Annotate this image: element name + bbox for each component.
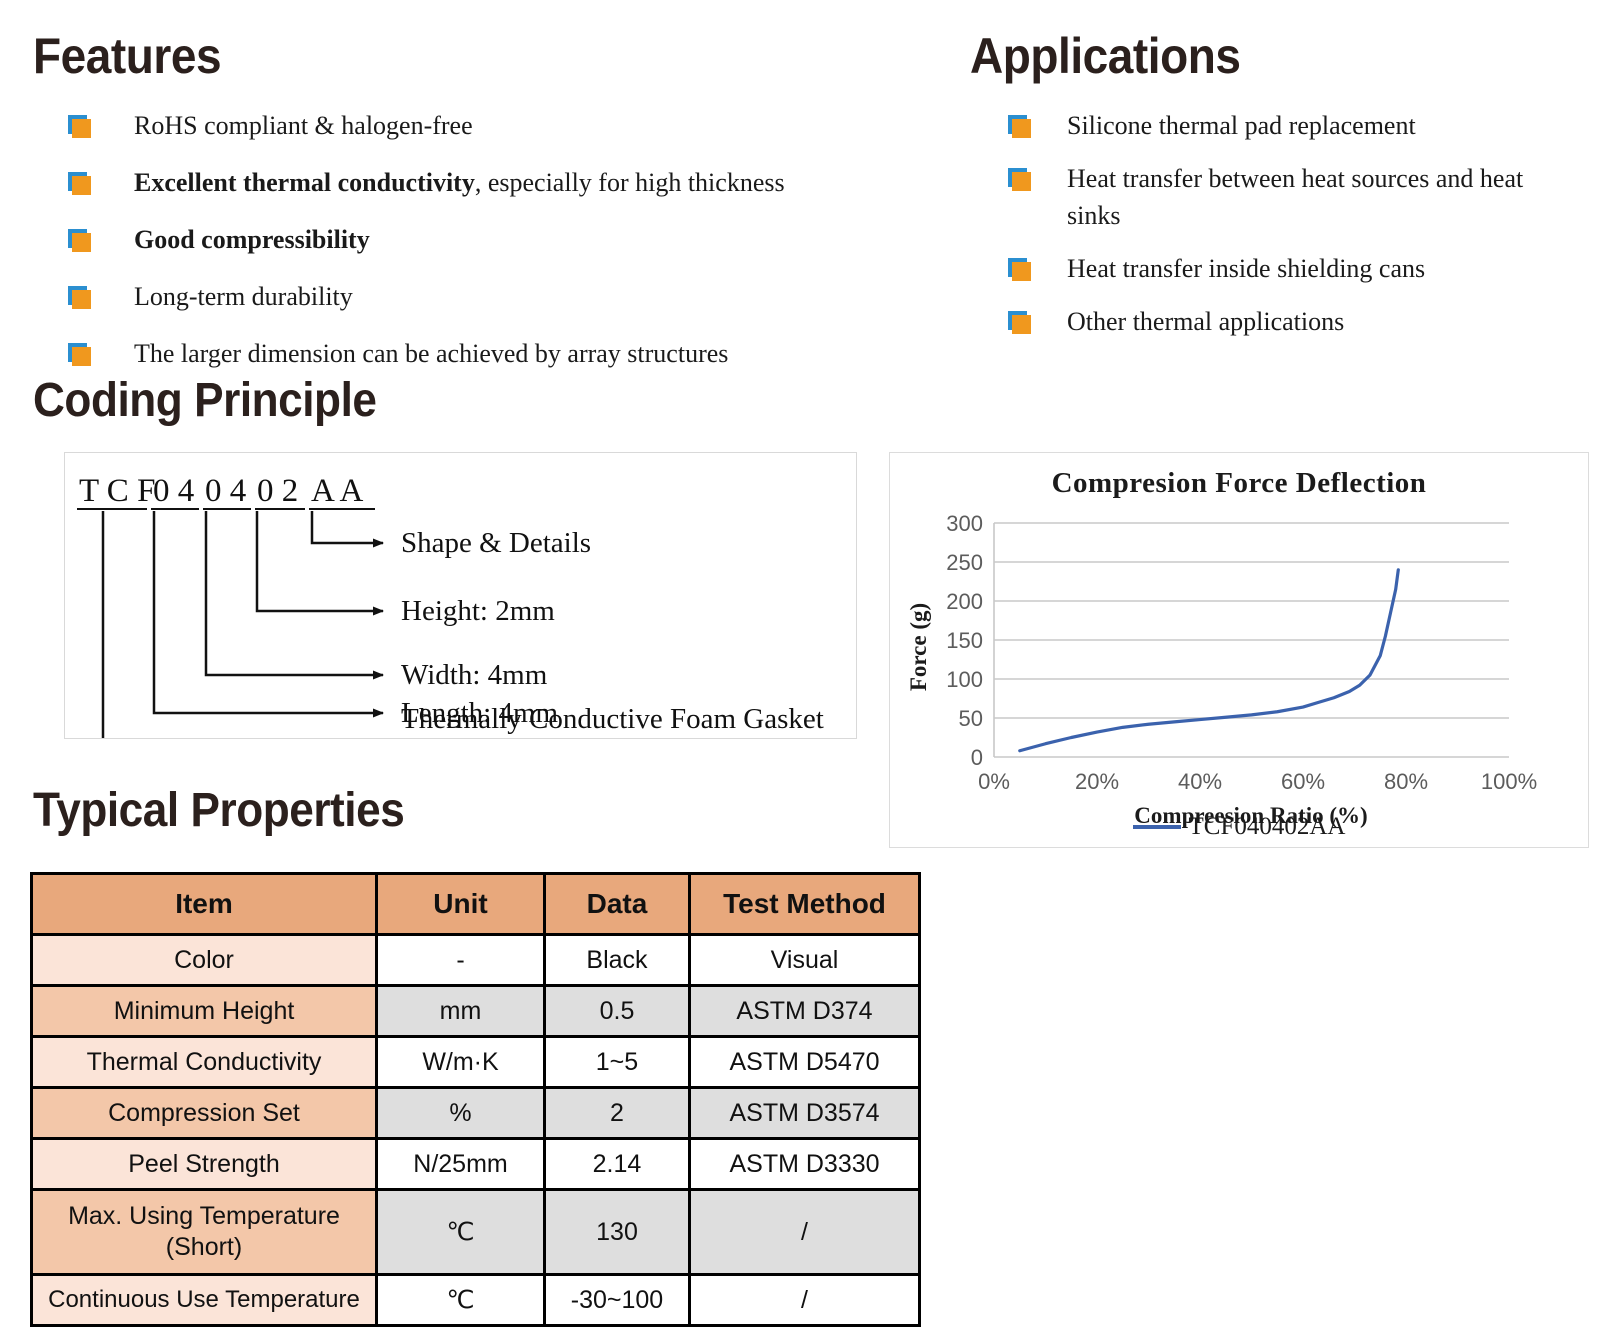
cell-test: / [690, 1190, 920, 1275]
cell-unit: % [377, 1088, 545, 1139]
cell-item: Color [32, 935, 377, 986]
x-tick-80: 80% [1384, 769, 1428, 794]
list-item-label: RoHS compliant & halogen-free [134, 108, 473, 145]
chart-svg: 300 250 200 150 100 50 0 Force (g) 0% 20… [890, 497, 1588, 847]
code-leader-lines [103, 511, 383, 738]
column-header-item: Item [32, 874, 377, 935]
y-tick-150: 150 [946, 628, 983, 653]
x-tick-0: 0% [978, 769, 1010, 794]
list-item: RoHS compliant & halogen-free [68, 108, 928, 145]
table-row: Peel Strength N/25mm 2.14 ASTM D3330 [32, 1139, 920, 1190]
chart-title: Compresion Force Deflection [890, 467, 1588, 500]
table-row: Thermal Conductivity W/m·K 1~5 ASTM D547… [32, 1037, 920, 1088]
coding-principle-svg: T C F 0 4 0 4 0 2 A A Shape & Details [65, 453, 856, 738]
bullet-square-icon [68, 343, 92, 367]
bullet-square-icon [1008, 311, 1032, 335]
list-item: Long-term durability [68, 279, 928, 316]
y-tick-50: 50 [959, 706, 983, 731]
cell-unit: W/m·K [377, 1037, 545, 1088]
x-tick-60: 60% [1281, 769, 1325, 794]
x-tick-40: 40% [1178, 769, 1222, 794]
table-header-row: Item Unit Data Test Method [32, 874, 920, 935]
cell-data: 0.5 [545, 986, 690, 1037]
cell-data: 1~5 [545, 1037, 690, 1088]
cell-test: ASTM D3574 [690, 1088, 920, 1139]
legend-label: TCF040402AA [1189, 813, 1346, 841]
table-row: Minimum Height mm 0.5 ASTM D374 [32, 986, 920, 1037]
cell-item-line1: Max. Using Temperature [68, 1202, 340, 1230]
cell-data: 2.14 [545, 1139, 690, 1190]
y-tick-300: 300 [946, 511, 983, 536]
cell-item: Minimum Height [32, 986, 377, 1037]
bullet-square-icon [68, 172, 92, 196]
code-group-3: 0 2 [257, 473, 298, 509]
typical-properties-table: Item Unit Data Test Method Color - Black… [30, 872, 921, 1327]
cell-data: Black [545, 935, 690, 986]
cell-unit: mm [377, 986, 545, 1037]
list-item-text: The larger dimension can be achieved by … [134, 339, 728, 368]
list-item: Good compressibility [68, 222, 928, 259]
x-tick-100: 100% [1481, 769, 1537, 794]
cell-unit: N/25mm [377, 1139, 545, 1190]
column-header-data: Data [545, 874, 690, 935]
chart-series-line [1020, 570, 1399, 751]
features-heading: Features [33, 27, 221, 85]
list-item-bold: Excellent thermal conductivity [134, 168, 475, 197]
bullet-square-icon [68, 229, 92, 253]
list-item: Silicone thermal pad replacement [1008, 108, 1548, 145]
compression-force-deflection-chart: Compresion Force Deflection 300 250 200 … [889, 452, 1589, 848]
bullet-square-icon [1008, 258, 1032, 282]
list-item: Excellent thermal conductivity, especial… [68, 165, 928, 202]
table-row: Color - Black Visual [32, 935, 920, 986]
table-row: Compression Set % 2 ASTM D3574 [32, 1088, 920, 1139]
cell-test: ASTM D374 [690, 986, 920, 1037]
callout-width: Width: 4mm [401, 659, 548, 691]
y-axis-title: Force (g) [906, 603, 931, 691]
column-header-test-method: Test Method [690, 874, 920, 935]
list-item-label: The larger dimension can be achieved by … [134, 336, 728, 373]
coding-principle-diagram: T C F 0 4 0 4 0 2 A A Shape & Details [64, 452, 857, 739]
column-header-unit: Unit [377, 874, 545, 935]
cell-data: 2 [545, 1088, 690, 1139]
cell-test: / [690, 1275, 920, 1326]
list-item-text: , especially for high thickness [475, 168, 785, 197]
legend-line-swatch [1133, 825, 1181, 829]
code-group-4: A A [311, 473, 363, 509]
list-item: Heat transfer inside shielding cans [1008, 251, 1548, 288]
cell-item: Max. Using Temperature (Short) [32, 1190, 377, 1275]
cell-item-line2: (Short) [166, 1233, 242, 1261]
bullet-square-icon [1008, 115, 1032, 139]
features-list: RoHS compliant & halogen-free Excellent … [68, 108, 928, 393]
cell-unit: - [377, 935, 545, 986]
list-item-label: Excellent thermal conductivity, especial… [134, 165, 785, 202]
list-item-label: Long-term durability [134, 279, 353, 316]
cell-item: Continuous Use Temperature [32, 1275, 377, 1326]
callout-height: Height: 2mm [401, 595, 555, 627]
code-group-2: 0 4 [205, 473, 246, 509]
table-row: Max. Using Temperature (Short) ℃ 130 / [32, 1190, 920, 1275]
cell-test: Visual [690, 935, 920, 986]
list-item-label: Silicone thermal pad replacement [1067, 108, 1416, 145]
callout-product: Thermally Conductive Foam Gasket [401, 703, 824, 736]
chart-legend: TCF040402AA [890, 813, 1588, 841]
x-tick-20: 20% [1075, 769, 1119, 794]
cell-item: Compression Set [32, 1088, 377, 1139]
code-group-0: T C F [79, 473, 155, 509]
list-item-text: Long-term durability [134, 282, 353, 311]
bullet-square-icon [1008, 168, 1032, 192]
typical-properties-heading: Typical Properties [33, 783, 404, 838]
list-item-text: RoHS compliant & halogen-free [134, 111, 473, 140]
callout-shape-details: Shape & Details [401, 527, 591, 559]
cell-item: Thermal Conductivity [32, 1037, 377, 1088]
cell-data: 130 [545, 1190, 690, 1275]
list-item-label: Heat transfer inside shielding cans [1067, 251, 1425, 288]
cell-unit: ℃ [377, 1275, 545, 1326]
list-item: Other thermal applications [1008, 304, 1548, 341]
list-item: Heat transfer between heat sources and h… [1008, 161, 1548, 235]
y-tick-250: 250 [946, 550, 983, 575]
y-tick-200: 200 [946, 589, 983, 614]
table-row: Continuous Use Temperature ℃ -30~100 / [32, 1275, 920, 1326]
bullet-square-icon [68, 286, 92, 310]
y-tick-0: 0 [971, 745, 983, 770]
code-group-1: 0 4 [153, 473, 194, 509]
list-item-label: Heat transfer between heat sources and h… [1067, 161, 1548, 235]
list-item: The larger dimension can be achieved by … [68, 336, 928, 373]
applications-list: Silicone thermal pad replacement Heat tr… [1008, 108, 1548, 357]
cell-item: Peel Strength [32, 1139, 377, 1190]
chart-gridlines [994, 523, 1509, 757]
list-item-bold: Good compressibility [134, 225, 370, 254]
cell-test: ASTM D3330 [690, 1139, 920, 1190]
cell-test: ASTM D5470 [690, 1037, 920, 1088]
applications-heading: Applications [970, 27, 1241, 85]
cell-data: -30~100 [545, 1275, 690, 1326]
y-tick-100: 100 [946, 667, 983, 692]
list-item-label: Other thermal applications [1067, 304, 1344, 341]
list-item-label: Good compressibility [134, 222, 370, 259]
cell-unit: ℃ [377, 1190, 545, 1275]
coding-principle-heading: Coding Principle [33, 373, 376, 428]
bullet-square-icon [68, 115, 92, 139]
